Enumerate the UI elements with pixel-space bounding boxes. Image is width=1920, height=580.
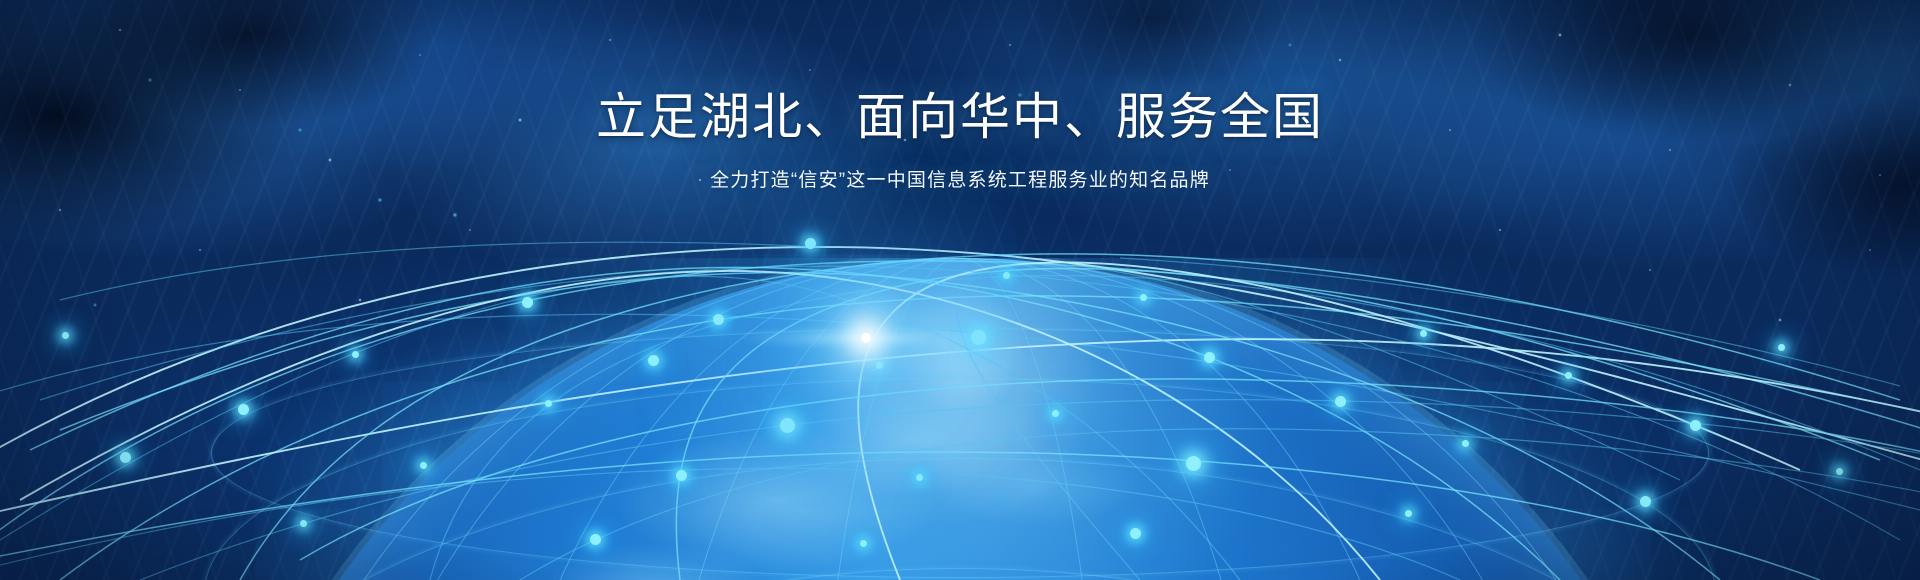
hero-copy: 立足湖北、面向华中、服务全国 全力打造“信安”这一中国信息系统工程服务业的知名品… <box>0 88 1920 192</box>
hero-headline: 立足湖北、面向华中、服务全国 <box>0 88 1920 147</box>
grain-overlay <box>0 0 1920 580</box>
hero-subline: 全力打造“信安”这一中国信息系统工程服务业的知名品牌 <box>0 165 1920 192</box>
hero-banner: 立足湖北、面向华中、服务全国 全力打造“信安”这一中国信息系统工程服务业的知名品… <box>0 0 1920 580</box>
